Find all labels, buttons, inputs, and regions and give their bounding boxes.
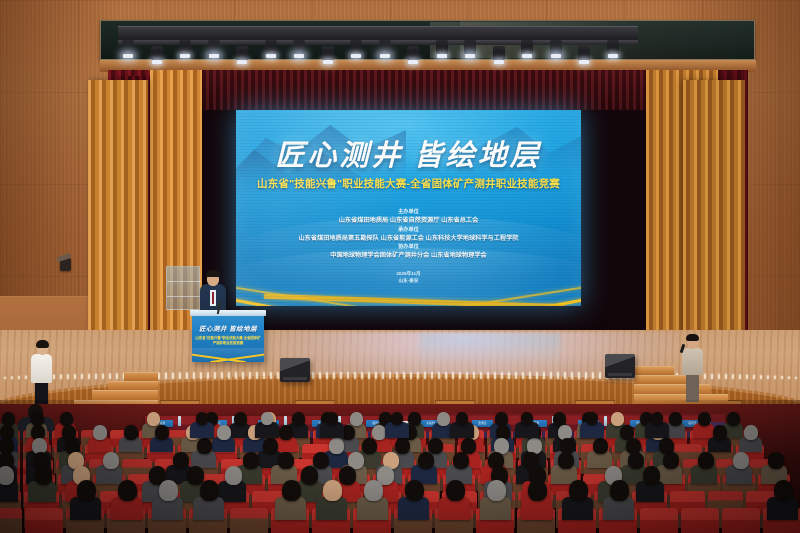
audience-member-head: [200, 480, 219, 501]
audience-member-head: [278, 452, 294, 469]
audience-member-head: [593, 438, 608, 454]
audience-member-head: [362, 438, 377, 454]
stage-monitor-speaker-left: [280, 358, 310, 382]
event-subtitle: 山东省"技能兴鲁"职业技能大赛-全省固体矿产测井职业技能竞赛: [236, 176, 581, 191]
audience-member-head: [173, 452, 189, 469]
audience-member-head: [323, 480, 342, 501]
audience-member-head: [628, 452, 644, 469]
audience-chair: [681, 508, 719, 533]
audience-member-head: [418, 452, 434, 469]
audience-member-head: [395, 438, 410, 454]
audience-member-head: [610, 480, 629, 501]
presenter-hair: [206, 270, 220, 277]
organizer-heading-undertaker: 承办单位: [236, 226, 581, 234]
audience-member-head: [364, 480, 383, 501]
audience-member-head: [234, 412, 247, 426]
staff-right-hair: [686, 334, 699, 341]
audience-member-head: [446, 480, 465, 501]
backstage-shelf: [166, 266, 200, 310]
stage-light-7: [293, 40, 305, 55]
audience-member-head: [528, 480, 547, 501]
audience-member-head: [405, 480, 424, 501]
audience-member-head: [713, 425, 727, 440]
audience-member-head: [487, 480, 506, 501]
audience-member-head: [279, 425, 293, 440]
audience-member-head: [292, 412, 305, 426]
stage-light-4: [208, 40, 220, 55]
audience-member-head: [611, 412, 624, 426]
audience-member-head: [217, 425, 231, 440]
stage-light-1: [122, 40, 134, 55]
stage-light-3: [179, 40, 191, 55]
table-seated-head: [391, 412, 403, 425]
audience-member-head: [77, 480, 96, 501]
stage-light-2: [151, 46, 163, 61]
stage-light-16: [550, 40, 562, 55]
audience-chair: [230, 508, 268, 533]
audience-member-head: [263, 438, 278, 454]
stage-light-6: [265, 40, 277, 55]
audience-member-head: [225, 466, 242, 485]
table-seated-head: [456, 412, 468, 425]
audience-member-head: [187, 466, 204, 485]
audience-member-head: [60, 412, 73, 426]
audience-member-head: [437, 412, 450, 426]
audience-member-head: [408, 412, 421, 426]
audience-chair: [640, 508, 678, 533]
podium-top-surface: [190, 310, 266, 316]
audience-member-head: [2, 412, 15, 426]
stage-light-8: [322, 46, 334, 61]
audience-member-head: [663, 452, 679, 469]
podium-ribbon-graphic: [192, 348, 264, 362]
audience-member-head: [124, 425, 138, 440]
audience-member-head: [495, 412, 508, 426]
staff-right-legs: [686, 372, 699, 402]
organizer-heading-coorganizer: 协办单位: [236, 243, 581, 251]
organizer-body-undertaker: 山东省煤田地质局第五勘探队 山东省能源工会 山东科技大学地球科学与工程学院: [236, 234, 581, 244]
audience-member-head: [243, 452, 259, 469]
wall-speaker-icon: [60, 258, 71, 271]
water-bottle-1: [178, 416, 181, 426]
table-seated-head: [261, 412, 273, 425]
table-seated-head: [651, 412, 663, 425]
audience-chair: [0, 508, 22, 533]
audience-member-head: [669, 412, 682, 426]
table-seated-head: [196, 412, 208, 425]
stage-light-14: [493, 46, 505, 61]
audience-member-head: [313, 452, 329, 469]
outer-gold-curtain-right: [683, 80, 745, 360]
audience-member-head: [643, 466, 660, 485]
stage-floor-screen-reflection: [420, 334, 560, 364]
auditorium-scene: 匠心测井 皆绘地层 山东省"技能兴鲁"职业技能大赛-全省固体矿产测井职业技能竞赛…: [0, 0, 800, 533]
audience-member-head: [428, 438, 443, 454]
podium-subtitle: 山东省"技能兴鲁"职业技能大赛 全省固体矿产测井职业技能竞赛: [194, 336, 262, 346]
audience-member-head: [282, 480, 301, 501]
audience-member-head: [698, 412, 711, 426]
audience-member-head: [744, 425, 758, 440]
stage-monitor-speaker-right: [605, 354, 635, 378]
audience-member-head: [147, 412, 160, 426]
audience-member-head: [93, 425, 107, 440]
led-display-screen: 匠心测井 皆绘地层 山东省"技能兴鲁"职业技能大赛-全省固体矿产测井职业技能竞赛…: [236, 110, 581, 306]
stage-light-15: [521, 40, 533, 55]
table-seated-head: [586, 412, 598, 425]
event-main-title: 匠心测井 皆绘地层: [236, 132, 581, 174]
audience-member-head: [0, 466, 14, 485]
audience-member-head: [118, 480, 137, 501]
stage-light-9: [350, 40, 362, 55]
stage-light-10: [379, 40, 391, 55]
table-seated-head: [326, 412, 338, 425]
audience-member-head: [35, 466, 52, 485]
organizer-body-host: 山东省煤田地质局 山东省自然资源厅 山东省总工会: [236, 216, 581, 226]
audience-chair: [722, 508, 760, 533]
audience-member-head: [31, 412, 44, 426]
stage-light-5: [236, 46, 248, 61]
presenter-tie: [212, 292, 214, 304]
audience-member-head: [339, 466, 356, 485]
audience-member-head: [727, 412, 740, 426]
outer-gold-curtain-left: [88, 80, 148, 360]
podium-title: 匠心测井 皆绘地层: [192, 323, 264, 333]
table-seated-head: [521, 412, 533, 425]
staff-right-jacket: [682, 348, 703, 375]
audience-member-head: [558, 452, 574, 469]
audience-chair: [25, 508, 63, 533]
stage-light-17: [578, 46, 590, 61]
speaking-podium: 匠心测井 皆绘地层 山东省"技能兴鲁"职业技能大赛 全省固体矿产测井职业技能竞赛: [192, 314, 264, 362]
stage-light-12: [436, 40, 448, 55]
audience-member-head: [197, 438, 212, 454]
led-ribbon-graphic: [236, 252, 581, 306]
audience-member-head: [103, 452, 119, 469]
stage-light-11: [407, 46, 419, 61]
audience-member-head: [774, 480, 793, 501]
organizer-heading-host: 主办单位: [236, 208, 581, 216]
audience-member-head: [329, 438, 344, 454]
audience-member-head: [698, 452, 714, 469]
audience-member-head: [453, 452, 469, 469]
audience-member-head: [350, 412, 363, 426]
stage-light-13: [464, 40, 476, 55]
staff-left-blouse: [31, 354, 52, 383]
audience-member-head: [155, 425, 169, 440]
stage-light-18: [607, 40, 619, 55]
audience-member-head: [569, 480, 588, 501]
audience-member-head: [768, 452, 784, 469]
audience-member-head: [301, 466, 318, 485]
audience-member-head: [159, 480, 178, 501]
staff-left-hair: [36, 340, 49, 348]
audience-member-head: [553, 412, 566, 426]
audience-member-head: [733, 452, 749, 469]
